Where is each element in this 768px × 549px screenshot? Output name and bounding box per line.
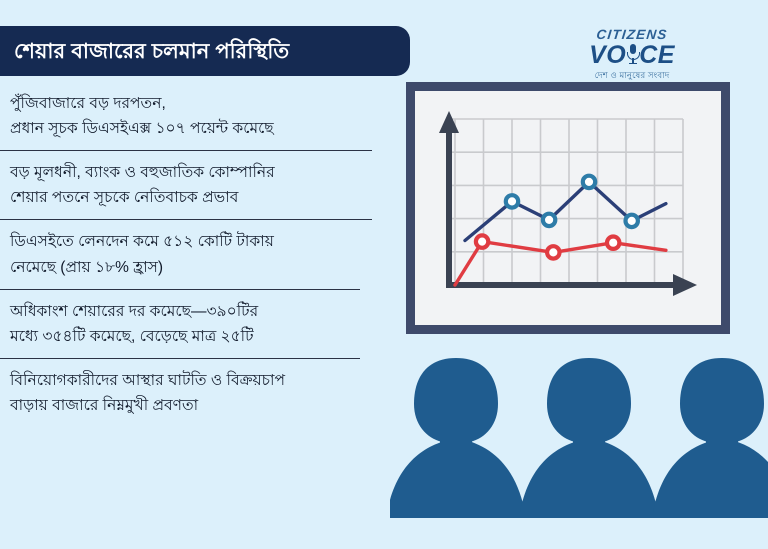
chart-series — [455, 176, 666, 285]
chart-data-point — [476, 235, 488, 247]
logo-tagline: দেশ ও মানুষের সংবাদ — [552, 71, 712, 80]
bullet-text: ডিএসইতে লেনদেন কমে ৫১২ কোটি টাকায় নেমেছ… — [0, 229, 388, 279]
bullet-text: বড় মূলধনী, ব্যাংক ও বহুজাতিক কোম্পানির … — [0, 160, 388, 210]
chart-data-point — [607, 237, 619, 249]
people-svg — [390, 352, 768, 518]
microphone-icon — [627, 43, 638, 67]
logo-voice-text-b: CE — [639, 43, 675, 68]
person-silhouette-icon — [390, 358, 526, 518]
divider — [0, 289, 360, 290]
list-item: অধিকাংশ শেয়ারের দর কমেছে—৩৯০টির মধ্যে ৩… — [0, 292, 388, 356]
chart-frame — [406, 82, 730, 334]
list-item: বিনিয়োগকারীদের আস্থার ঘাটতি ও বিক্রয়চা… — [0, 361, 388, 425]
logo-citizens-text: CITIZENS — [551, 28, 712, 42]
bullet-text: বিনিয়োগকারীদের আস্থার ঘাটতি ও বিক্রয়চা… — [0, 368, 388, 418]
chart-data-point — [506, 195, 518, 207]
list-item: পুঁজিবাজারে বড় দরপতন, প্রধান সূচক ডিএসই… — [0, 84, 388, 148]
list-item: ডিএসইতে লেনদেন কমে ৫১২ কোটি টাকায় নেমেছ… — [0, 222, 388, 286]
divider — [0, 219, 372, 220]
line-chart — [415, 91, 721, 325]
list-item: বড় মূলধনী, ব্যাংক ও বহুজাতিক কোম্পানির … — [0, 153, 388, 217]
page-title-bar: শেয়ার বাজারের চলমান পরিস্থিতি — [0, 26, 410, 76]
logo-voice-row: VO CE — [552, 43, 712, 68]
page-title: শেয়ার বাজারের চলমান পরিস্থিতি — [0, 41, 289, 62]
brand-logo: CITIZENS VO CE দেশ ও মানুষের সংবাদ — [552, 28, 712, 80]
bullet-text: পুঁজিবাজারে বড় দরপতন, প্রধান সূচক ডিএসই… — [0, 91, 388, 141]
person-silhouette-icon — [519, 358, 659, 518]
chart-data-point — [543, 214, 555, 226]
bullet-text: অধিকাংশ শেয়ারের দর কমেছে—৩৯০টির মধ্যে ৩… — [0, 299, 388, 349]
infographic-canvas: শেয়ার বাজারের চলমান পরিস্থিতি পুঁজিবাজা… — [0, 0, 768, 549]
chart-data-point — [626, 215, 638, 227]
divider — [0, 150, 372, 151]
chart-line-index-line — [465, 182, 666, 241]
chart-plot-area — [415, 91, 721, 325]
logo-voice-text-a: VO — [589, 43, 626, 68]
divider — [0, 358, 360, 359]
audience-silhouettes — [390, 352, 768, 518]
bullet-list: পুঁজিবাজারে বড় দরপতন, প্রধান সূচক ডিএসই… — [0, 84, 388, 425]
chart-data-point — [547, 246, 559, 258]
chart-data-point — [583, 176, 595, 188]
person-silhouette-icon — [652, 358, 768, 518]
